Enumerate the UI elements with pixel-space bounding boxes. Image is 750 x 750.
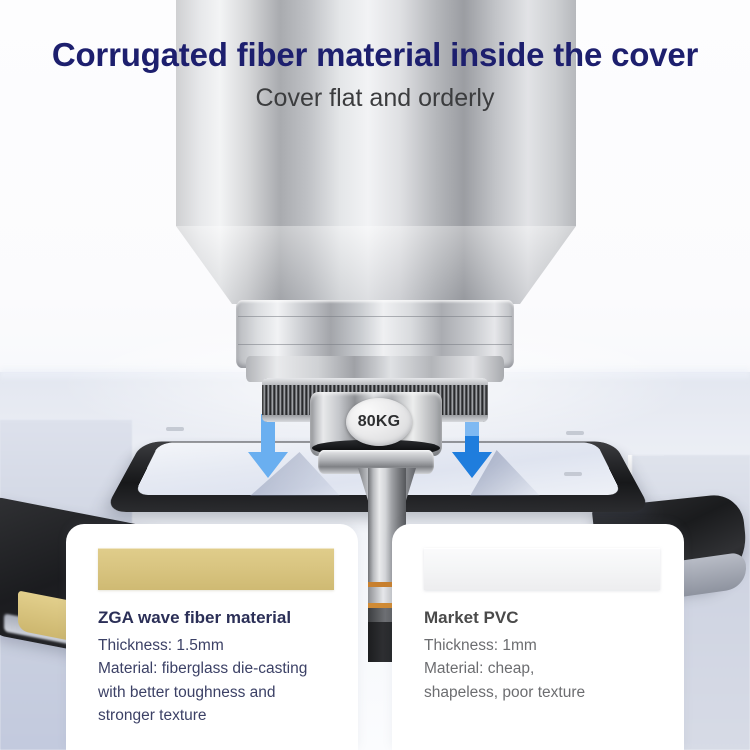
market-pvc-card: Market PVC Thickness: 1mm Material: chea… <box>392 524 684 750</box>
zga-material-details: Thickness: 1.5mm Material: fiberglass di… <box>98 634 346 727</box>
load-capacity-badge: 80KG <box>346 398 412 446</box>
pvc-detail-line: Material: cheap, <box>424 657 672 680</box>
press-tapered-base <box>176 226 576 304</box>
zga-detail-line: Material: fiberglass die-casting <box>98 657 346 680</box>
zga-detail-line: Thickness: 1.5mm <box>98 634 346 657</box>
page-title: Corrugated fiber material inside the cov… <box>0 36 750 74</box>
market-pvc-details: Thickness: 1mm Material: cheap, shapeles… <box>424 634 672 704</box>
market-pvc-swatch <box>424 548 660 590</box>
zga-material-heading: ZGA wave fiber material <box>98 608 291 628</box>
zga-detail-line: stronger texture <box>98 704 346 727</box>
market-pvc-heading: Market PVC <box>424 608 518 628</box>
zga-detail-line: with better toughness and <box>98 681 346 704</box>
pvc-detail-line: Thickness: 1mm <box>424 634 672 657</box>
pvc-detail-line: shapeless, poor texture <box>424 681 672 704</box>
page-subtitle: Cover flat and orderly <box>0 84 750 113</box>
product-feature-image: 80KG Corrugated fiber material inside th… <box>0 0 750 750</box>
load-capacity-label: 80KG <box>358 413 401 431</box>
zga-material-card: ZGA wave fiber material Thickness: 1.5mm… <box>66 524 358 750</box>
zga-material-swatch <box>98 548 334 590</box>
press-cylinder-body <box>176 0 576 226</box>
